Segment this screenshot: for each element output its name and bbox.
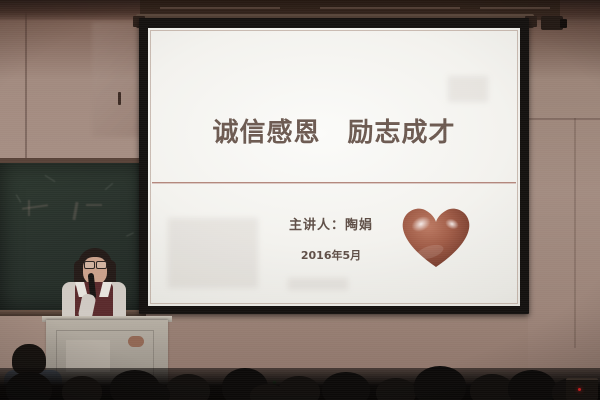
ceiling-slat bbox=[480, 7, 550, 9]
audience-head bbox=[376, 378, 416, 400]
lecture-hall-photo: 诚信感恩 励志成才 主讲人：陶娟 2016年5月 bbox=[0, 0, 600, 400]
ceiling-mount-bracket bbox=[560, 19, 567, 28]
chalk-mark bbox=[72, 202, 78, 220]
wall-seam bbox=[25, 4, 27, 162]
audience-head bbox=[6, 372, 52, 400]
presenter bbox=[56, 248, 132, 324]
raised-hand bbox=[128, 336, 144, 347]
slide-title: 诚信感恩 励志成才 bbox=[148, 112, 520, 149]
right-wall bbox=[528, 0, 600, 400]
eyeglasses-right-lens bbox=[96, 261, 107, 269]
slide-divider-shadow bbox=[152, 183, 516, 184]
audience-head bbox=[166, 374, 210, 400]
ceiling-slat bbox=[160, 7, 280, 9]
recording-device bbox=[566, 378, 598, 400]
wall-seam-horizontal bbox=[528, 118, 600, 120]
wall-stain bbox=[92, 22, 142, 137]
wall-seam-vertical bbox=[574, 118, 576, 348]
chalk-mark bbox=[86, 204, 102, 206]
chalk-mark bbox=[22, 204, 48, 210]
audience-head bbox=[322, 372, 370, 400]
screen-blemish bbox=[448, 76, 488, 102]
blackboard-top-edge bbox=[0, 158, 146, 163]
wall-hook bbox=[118, 92, 121, 105]
slide-date: 2016年5月 bbox=[236, 247, 426, 263]
audience-head bbox=[62, 376, 102, 400]
chalk-mark bbox=[28, 200, 30, 216]
audience-head bbox=[132, 382, 170, 400]
projection-screen: 诚信感恩 励志成才 主讲人：陶娟 2016年5月 bbox=[148, 28, 520, 306]
audience-head bbox=[414, 366, 466, 400]
chalk-mark bbox=[126, 232, 134, 236]
chalk-mark bbox=[105, 183, 113, 190]
recording-led bbox=[578, 388, 581, 391]
ceiling-slat bbox=[320, 7, 460, 9]
chalk-mark bbox=[45, 175, 56, 182]
chalk-mark bbox=[16, 194, 21, 202]
screen-blemish bbox=[288, 278, 348, 290]
audience-head bbox=[508, 370, 556, 400]
heart-icon bbox=[400, 204, 472, 270]
eyeglasses-left-lens bbox=[84, 261, 95, 269]
audience-head bbox=[250, 384, 286, 400]
heart-graphic bbox=[400, 204, 472, 270]
slide-presenter: 主讲人：陶娟 bbox=[236, 214, 426, 233]
